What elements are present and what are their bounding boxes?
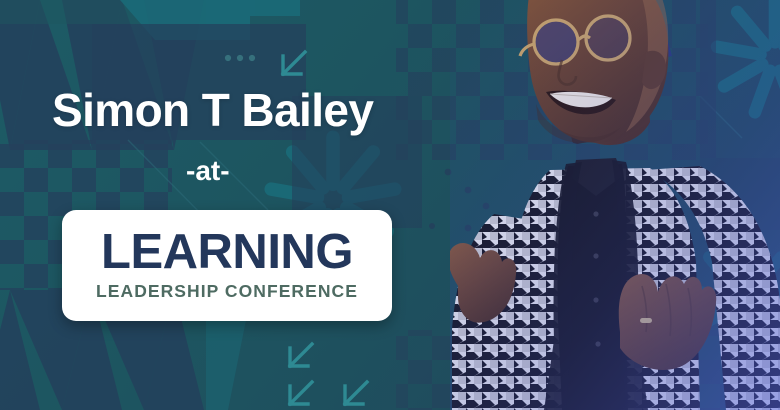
stage-light-overlay	[450, 0, 780, 410]
event-logo-subtitle: LEADERSHIP CONFERENCE	[96, 283, 358, 301]
event-logo-title: LEARNING	[101, 229, 353, 276]
speaker-photo	[450, 0, 780, 410]
dots-decoration-top	[225, 55, 255, 61]
page-title: Simon T Bailey	[52, 83, 373, 137]
promo-graphic: Simon T Bailey -at- LEARNING LEADERSHIP …	[0, 0, 780, 410]
event-logo-card: LEARNING LEADERSHIP CONFERENCE	[62, 210, 392, 321]
connector-text: -at-	[186, 155, 230, 187]
